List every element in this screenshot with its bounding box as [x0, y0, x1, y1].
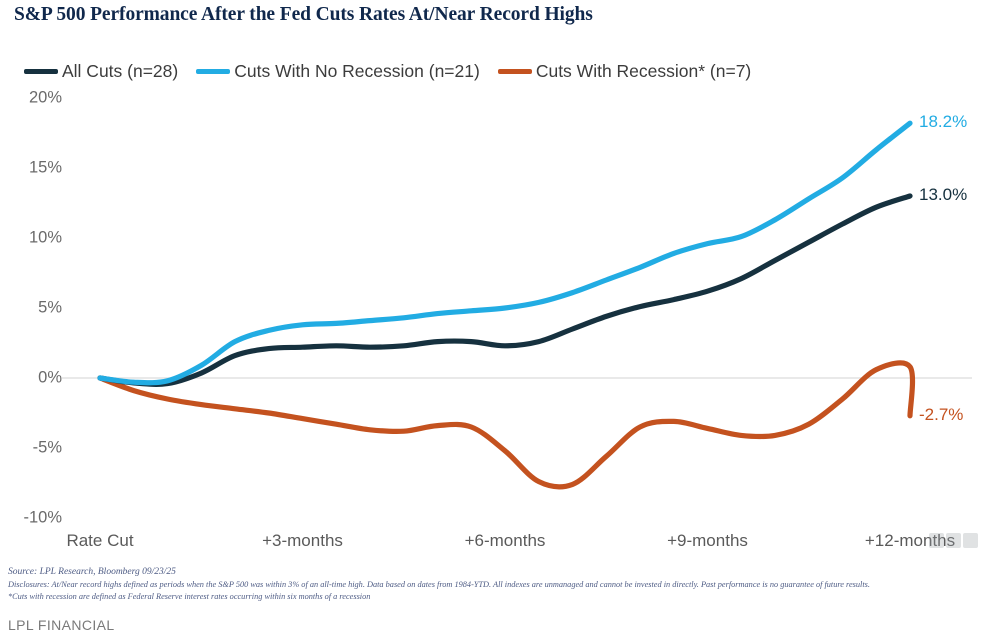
x-tick-label: +3-months — [262, 531, 343, 551]
footnote-disclosures: Disclosures: At/Near record highs define… — [8, 579, 986, 591]
end-value-label-2: -2.7% — [919, 405, 963, 425]
footnote-source: Source: LPL Research, Bloomberg 09/23/25 — [8, 566, 986, 579]
page-title: S&P 500 Performance After the Fed Cuts R… — [14, 4, 593, 26]
plot-area — [0, 85, 986, 535]
legend-label-recession: Cuts With Recession* (n=7) — [536, 61, 751, 82]
chart-legend: All Cuts (n=28) Cuts With No Recession (… — [24, 61, 769, 82]
legend-swatch-no-recession — [196, 69, 230, 74]
watermark-icon-3 — [963, 533, 978, 548]
legend-swatch-recession — [498, 69, 532, 74]
legend-item-no-recession[interactable]: Cuts With No Recession (n=21) — [196, 61, 480, 82]
series-line-cuts-with-recession — [100, 363, 913, 487]
legend-item-all-cuts[interactable]: All Cuts (n=28) — [24, 61, 178, 82]
line-chart-canvas — [0, 85, 986, 535]
legend-item-recession[interactable]: Cuts With Recession* (n=7) — [498, 61, 751, 82]
x-axis: Rate Cut+3-months+6-months+9-months+12-m… — [0, 531, 986, 561]
x-tick-label: +6-months — [465, 531, 546, 551]
x-tick-label: +9-months — [667, 531, 748, 551]
end-value-label-0: 13.0% — [919, 185, 967, 205]
legend-label-no-recession: Cuts With No Recession (n=21) — [234, 61, 480, 82]
footnotes: Source: LPL Research, Bloomberg 09/23/25… — [8, 566, 986, 602]
footnote-asterisk: *Cuts with recession are defined as Fede… — [8, 591, 986, 603]
watermark-icon-2 — [946, 533, 961, 548]
lpl-financial-logo: LPL FINANCIAL — [8, 617, 115, 633]
watermark-icon-1 — [929, 533, 944, 548]
legend-label-all-cuts: All Cuts (n=28) — [62, 61, 178, 82]
watermark-badge — [929, 531, 983, 550]
legend-swatch-all-cuts — [24, 69, 58, 74]
x-tick-label: Rate Cut — [66, 531, 133, 551]
series-line-all-cuts — [100, 196, 910, 384]
end-value-label-1: 18.2% — [919, 112, 967, 132]
